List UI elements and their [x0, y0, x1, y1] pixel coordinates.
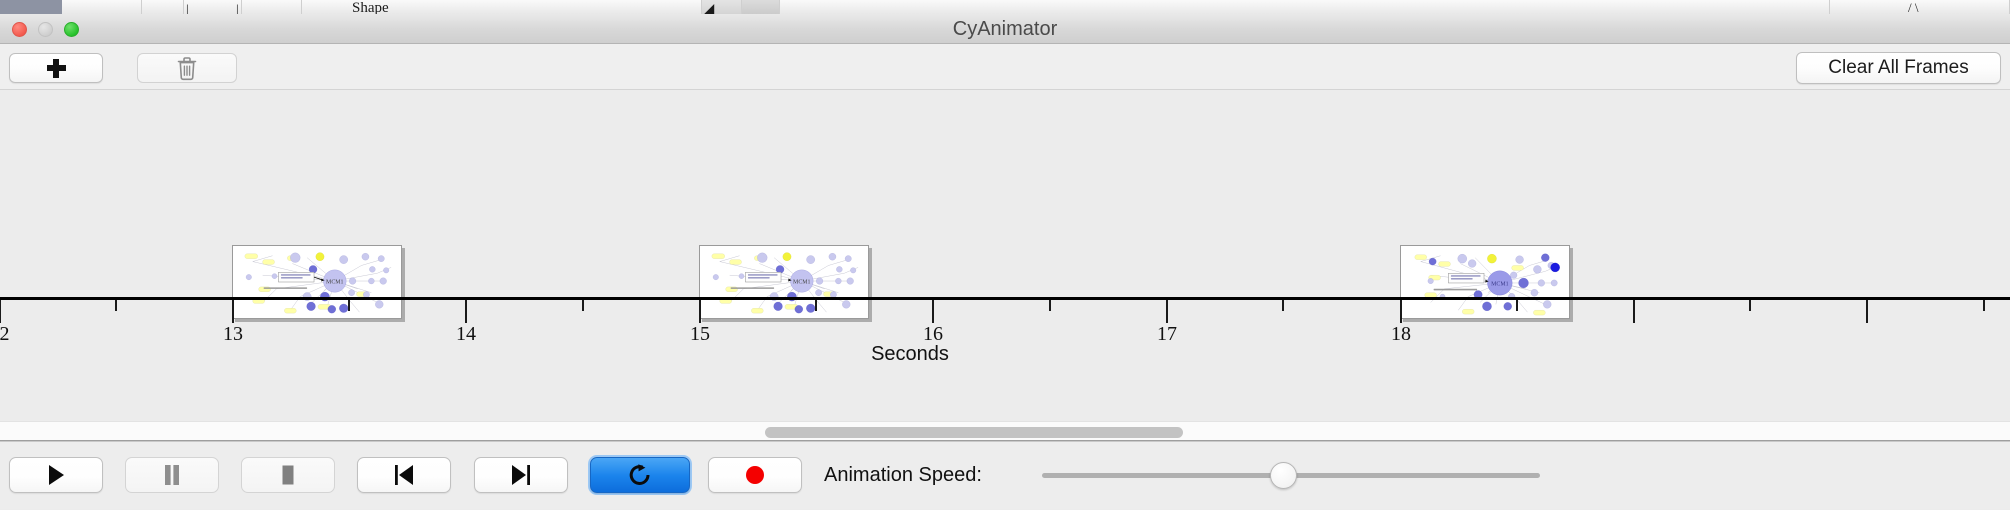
- timeline-canvas[interactable]: MCM1: [0, 90, 2010, 441]
- add-frame-button[interactable]: [9, 53, 103, 83]
- background-glyph: ◢: [704, 2, 718, 14]
- skip-next-button[interactable]: [474, 457, 568, 493]
- timeline-horizontal-scrollbar[interactable]: [0, 421, 2010, 441]
- skip-next-icon: [509, 463, 533, 487]
- stop-button[interactable]: [241, 457, 335, 493]
- pause-button[interactable]: [125, 457, 219, 493]
- ruler-tick: [582, 300, 584, 311]
- window-titlebar: CyAnimator: [0, 14, 2010, 44]
- ruler-tick: [1282, 300, 1284, 311]
- slider-thumb[interactable]: [1270, 462, 1297, 489]
- svg-text:MCM1: MCM1: [1491, 281, 1509, 287]
- timeline-ruler[interactable]: 12131415161718: [0, 297, 2010, 327]
- ruler-tick: [0, 300, 1, 323]
- ruler-tick: [1049, 300, 1051, 311]
- background-glyph: |: [186, 2, 200, 14]
- svg-text:MCM1: MCM1: [793, 279, 811, 285]
- animation-speed-label: Animation Speed:: [824, 464, 982, 487]
- stop-icon: [278, 464, 298, 486]
- delete-frame-button[interactable]: [137, 53, 237, 83]
- loop-button[interactable]: [590, 457, 690, 493]
- skip-previous-button[interactable]: [357, 457, 451, 493]
- svg-text:MCM1: MCM1: [326, 279, 344, 285]
- background-toolbar-segment: [742, 0, 780, 14]
- ruler-tick: [1633, 300, 1635, 323]
- playback-control-bar: Animation Speed:: [0, 441, 2010, 509]
- ruler-tick: [1400, 300, 1402, 323]
- play-icon: [45, 463, 67, 487]
- ruler-tick: [815, 300, 817, 311]
- ruler-tick: [115, 300, 117, 311]
- axis-title: Seconds: [0, 343, 2010, 366]
- ruler-tick: [932, 300, 934, 323]
- background-toolbar-segment: [62, 0, 142, 14]
- ruler-axis-line: [0, 297, 2010, 300]
- record-icon: [743, 463, 767, 487]
- background-toolbar-segment: [142, 0, 184, 14]
- background-toolbar-segment: [780, 0, 1830, 14]
- clear-all-frames-button[interactable]: Clear All Frames: [1796, 52, 2001, 84]
- background-glyph: |: [236, 2, 250, 14]
- trash-icon: [176, 56, 198, 81]
- ruler-tick: [1166, 300, 1168, 323]
- ruler-tick: [1516, 300, 1518, 311]
- pause-icon: [162, 463, 182, 487]
- ruler-tick: [1749, 300, 1751, 311]
- background-glyph: / \: [1908, 1, 1948, 14]
- background-titlebar-left: [0, 0, 62, 14]
- skip-previous-icon: [392, 463, 416, 487]
- background-label-shape: Shape: [352, 1, 422, 14]
- frame-toolbar: Clear All Frames: [0, 44, 2010, 90]
- plus-icon: [47, 59, 66, 78]
- animation-speed-slider[interactable]: [1042, 473, 1540, 479]
- ruler-tick: [232, 300, 234, 323]
- play-button[interactable]: [9, 457, 103, 493]
- window-title: CyAnimator: [0, 14, 2010, 44]
- cyanimator-window: CyAnimator Clear All Frames: [0, 14, 2010, 510]
- scrollbar-thumb[interactable]: [765, 427, 1183, 438]
- clear-all-frames-label: Clear All Frames: [1828, 57, 1968, 79]
- ruler-tick: [1866, 300, 1868, 323]
- background-window-strip: | | Shape ◢ / \: [0, 0, 2010, 14]
- ruler-tick: [1983, 300, 1985, 311]
- record-button[interactable]: [708, 457, 802, 493]
- background-toolbar-segment: [242, 0, 302, 14]
- ruler-tick: [465, 300, 467, 323]
- loop-icon: [627, 462, 653, 488]
- ruler-tick: [348, 300, 350, 311]
- ruler-tick: [699, 300, 701, 323]
